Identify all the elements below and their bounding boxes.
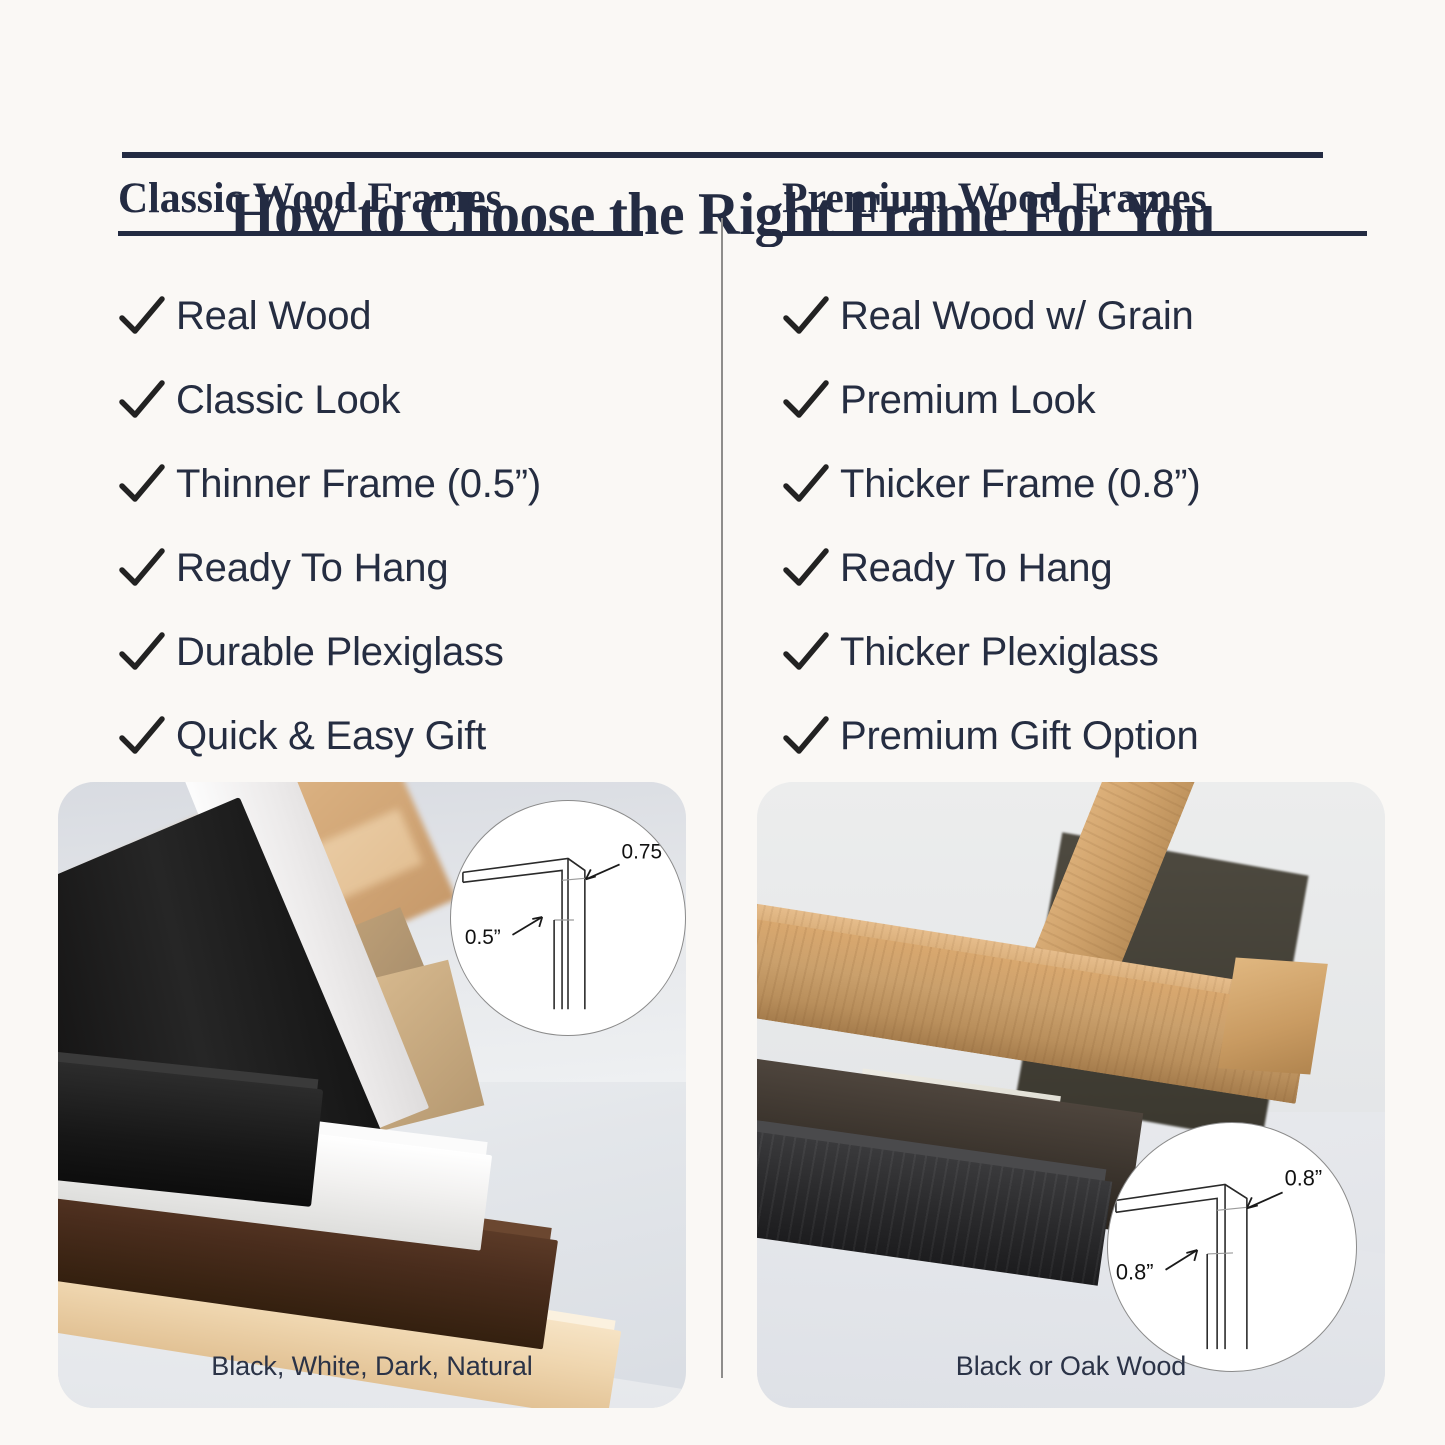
column-heading-underline-classic — [118, 231, 643, 236]
column-premium: Premium Wood Frames Real Wood w/ Grain P… — [782, 176, 1382, 778]
page-title-underline — [122, 152, 1323, 158]
feature-item: Premium Gift Option — [782, 694, 1382, 778]
frame-dimension-diagram-premium: 0.8” 0.8” — [1107, 1122, 1357, 1372]
feature-label: Thicker Frame (0.8”) — [840, 462, 1201, 507]
check-icon — [118, 630, 166, 674]
column-heading-underline-premium — [782, 231, 1367, 236]
feature-item: Ready To Hang — [118, 526, 678, 610]
feature-label: Real Wood w/ Grain — [840, 294, 1194, 339]
column-classic: Classic Wood Frames Real Wood Classic Lo… — [118, 176, 678, 778]
feature-item: Thinner Frame (0.5”) — [118, 442, 678, 526]
photo-card-premium: 0.8” 0.8” Black or Oak Wood — [757, 782, 1385, 1408]
feature-label: Real Wood — [176, 294, 371, 339]
photo-card-classic: 0.75” 0.5” Black, White, Dark, Natural — [58, 782, 686, 1408]
photo-caption-classic: Black, White, Dark, Natural — [58, 1351, 686, 1382]
feature-item: Thicker Plexiglass — [782, 610, 1382, 694]
frame-dimension-diagram-classic: 0.75” 0.5” — [450, 800, 686, 1036]
feature-item: Real Wood w/ Grain — [782, 274, 1382, 358]
feature-item: Quick & Easy Gift — [118, 694, 678, 778]
feature-label: Premium Look — [840, 378, 1095, 423]
feature-label: Thinner Frame (0.5”) — [176, 462, 541, 507]
check-icon — [118, 294, 166, 338]
column-heading-classic: Classic Wood Frames — [118, 176, 661, 222]
feature-item: Real Wood — [118, 274, 678, 358]
check-icon — [782, 378, 830, 422]
check-icon — [782, 714, 830, 758]
check-icon — [118, 378, 166, 422]
check-icon — [782, 546, 830, 590]
column-heading-premium: Premium Wood Frames — [782, 176, 1364, 222]
feature-item: Classic Look — [118, 358, 678, 442]
check-icon — [782, 630, 830, 674]
feature-list-classic: Real Wood Classic Look Thinner Frame (0.… — [118, 274, 678, 778]
column-divider — [721, 218, 723, 1378]
infographic-page: How to Choose the Right Frame For You Cl… — [0, 0, 1445, 1445]
diagram-width-label: 0.5” — [465, 926, 501, 949]
photo-caption-premium: Black or Oak Wood — [757, 1351, 1385, 1382]
check-icon — [118, 714, 166, 758]
feature-list-premium: Real Wood w/ Grain Premium Look Thicker … — [782, 274, 1382, 778]
check-icon — [782, 462, 830, 506]
feature-item: Durable Plexiglass — [118, 610, 678, 694]
feature-label: Ready To Hang — [176, 546, 448, 591]
feature-item: Thicker Frame (0.8”) — [782, 442, 1382, 526]
diagram-depth-label: 0.8” — [1285, 1165, 1323, 1190]
check-icon — [118, 462, 166, 506]
feature-label: Durable Plexiglass — [176, 630, 504, 675]
feature-item: Ready To Hang — [782, 526, 1382, 610]
diagram-width-label: 0.8” — [1116, 1260, 1154, 1285]
feature-label: Thicker Plexiglass — [840, 630, 1159, 675]
feature-label: Premium Gift Option — [840, 714, 1199, 759]
feature-label: Classic Look — [176, 378, 400, 423]
feature-label: Ready To Hang — [840, 546, 1112, 591]
feature-item: Premium Look — [782, 358, 1382, 442]
feature-label: Quick & Easy Gift — [176, 714, 486, 759]
check-icon — [782, 294, 830, 338]
check-icon — [118, 546, 166, 590]
